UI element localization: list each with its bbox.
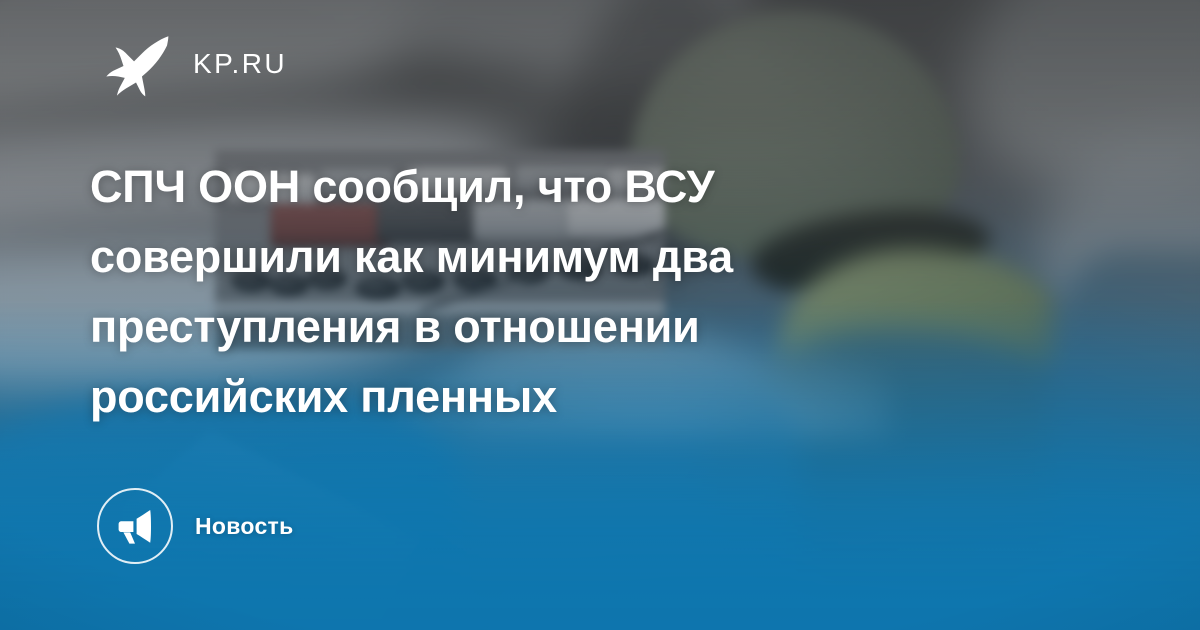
headline-line: совершили как минимум два: [90, 222, 920, 292]
news-social-card: KP.RU СПЧ ООН сообщил, что ВСУ совершили…: [0, 0, 1200, 630]
megaphone-icon: [97, 488, 173, 564]
headline-line: российских пленных: [90, 362, 920, 432]
swallow-bird-icon: [105, 31, 171, 97]
headline-line: преступления в отношении: [90, 292, 920, 362]
page-title: СПЧ ООН сообщил, что ВСУ совершили как м…: [90, 152, 920, 432]
status-badge[interactable]: Новость: [97, 488, 294, 564]
headline-line: СПЧ ООН сообщил, что ВСУ: [90, 152, 920, 222]
status-badge-label: Новость: [195, 513, 294, 540]
brand-name: KP.RU: [193, 50, 287, 78]
card-content: KP.RU СПЧ ООН сообщил, что ВСУ совершили…: [0, 0, 1200, 630]
brand-lockup[interactable]: KP.RU: [105, 31, 287, 97]
